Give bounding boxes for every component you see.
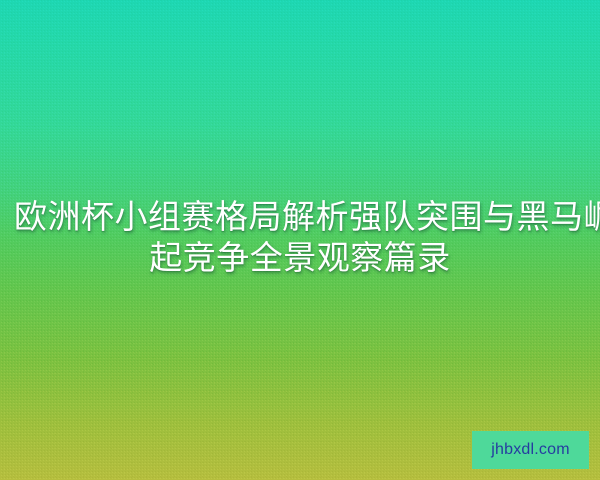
- page-title: 欧洲杯小组赛格局解析强队突围与黑马崛 起竞争全景观察篇录: [0, 196, 600, 278]
- title-line-1: 欧洲杯小组赛格局解析强队突围与黑马崛: [14, 196, 586, 237]
- watermark-badge: jhbxdl.com: [472, 431, 589, 469]
- poster-canvas: 欧洲杯小组赛格局解析强队突围与黑马崛 起竞争全景观察篇录 jhbxdl.com: [0, 0, 600, 480]
- watermark-label: jhbxdl.com: [491, 442, 569, 458]
- title-line-2: 起竞争全景观察篇录: [14, 237, 586, 278]
